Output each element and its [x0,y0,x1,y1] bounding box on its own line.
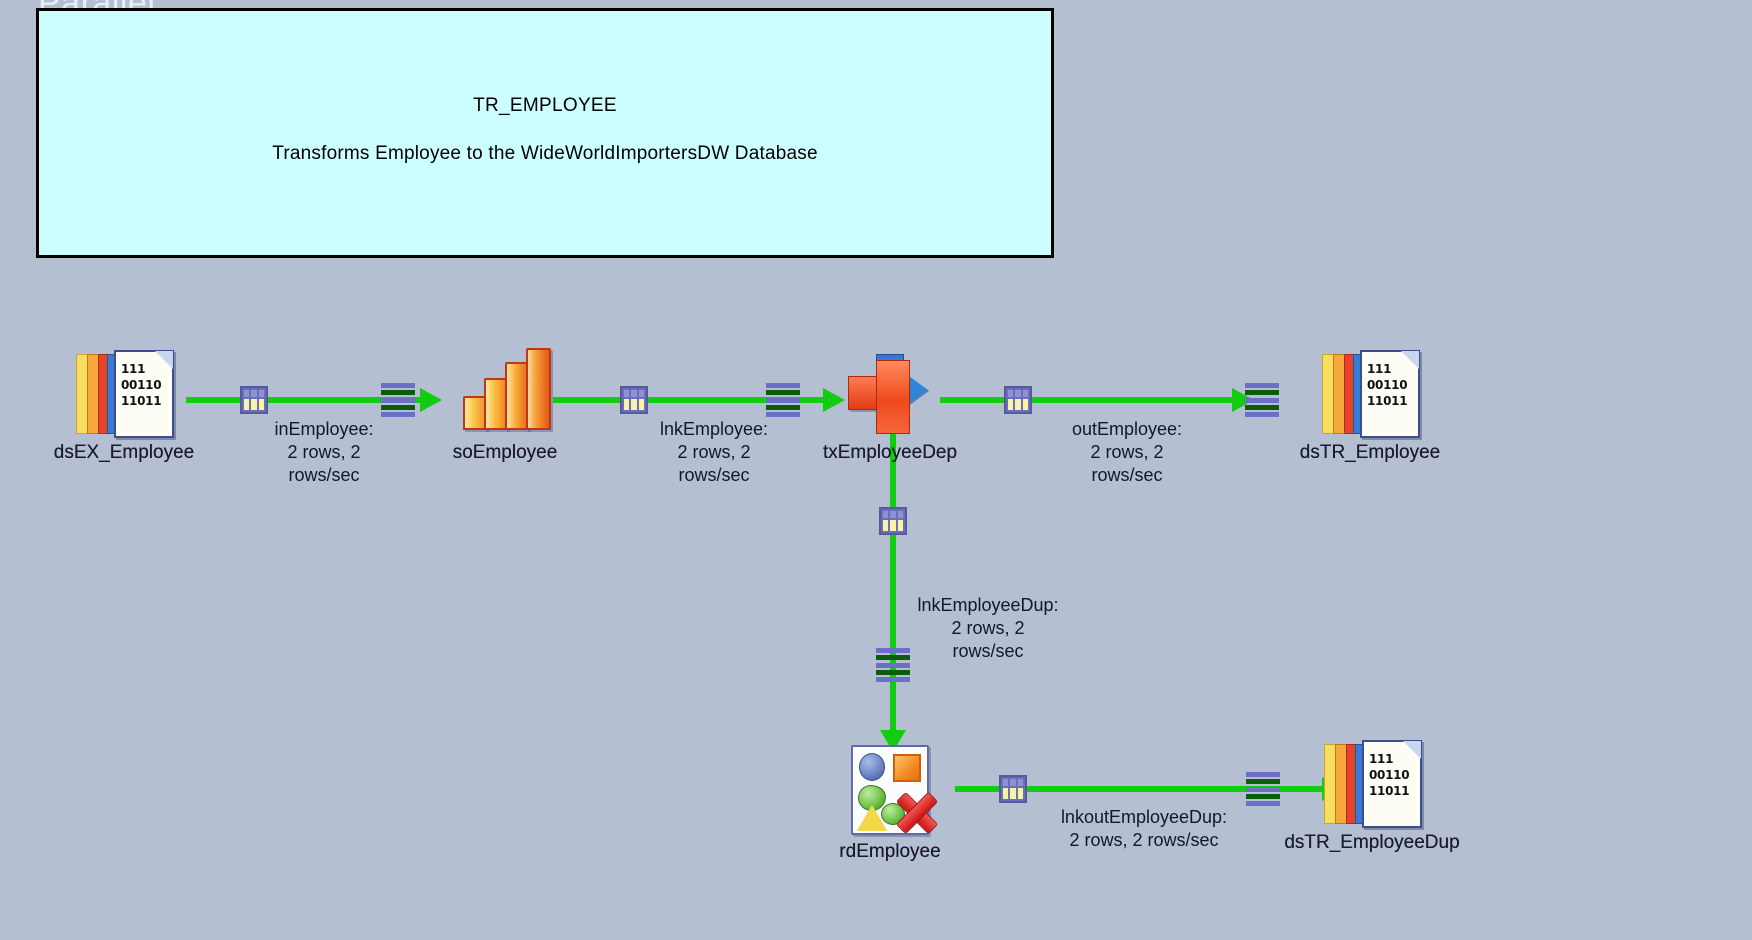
node-label-dsex-employee: dsEX_Employee [54,442,194,464]
flat-file-source-icon: 111 00110 11011 [76,350,172,436]
node-dstr-employee[interactable]: 111 00110 11011 dsTR_Employee [1270,350,1470,464]
path-label-out-employee: outEmployee: 2 rows, 2 rows/sec [1017,418,1237,487]
path-label-lnkout-employee-dup: lnkoutEmployeeDup: 2 rows, 2 rows/sec [994,806,1294,852]
data-flow-canvas[interactable]: Parallel TR_EMPLOYEE Transforms Employee… [0,0,1752,940]
derived-column-icon [842,346,938,436]
flat-file-destination-icon: 111 00110 11011 [1322,350,1418,436]
binary-text: 111 00110 11011 [1369,752,1420,799]
grid-icon-lnkout-employee-dup [999,775,1027,803]
edge-lnk-employee-dup[interactable] [890,430,896,750]
grid-icon-lnk-employee-dup [879,507,907,535]
grid-icon-out-employee [1004,386,1032,414]
node-label-tx-employee-dep: txEmployeeDep [823,442,957,464]
node-rd-employee[interactable]: rdEmployee [790,745,990,863]
annotation-box[interactable]: TR_EMPLOYEE Transforms Employee to the W… [36,8,1054,258]
node-dstr-employee-dup[interactable]: 111 00110 11011 dsTR_EmployeeDup [1272,740,1472,854]
flat-file-destination-icon: 111 00110 11011 [1324,740,1420,826]
row-discard-icon [851,745,929,835]
node-label-so-employee: soEmployee [453,442,558,464]
binary-text: 111 00110 11011 [1367,362,1418,409]
path-label-lnk-employee-dup: lnkEmployeeDup: 2 rows, 2 rows/sec [878,594,1098,663]
node-so-employee[interactable]: soEmployee [405,350,605,464]
grid-icon-in-employee [240,386,268,414]
node-dsex-employee[interactable]: 111 00110 11011 dsEX_Employee [24,350,224,464]
node-label-dstr-employee: dsTR_Employee [1300,442,1440,464]
red-x-icon [895,791,939,835]
node-label-rd-employee: rdEmployee [839,841,940,863]
binary-text: 111 00110 11011 [121,362,172,409]
sort-icon [457,350,553,436]
node-label-dstr-employee-dup: dsTR_EmployeeDup [1284,832,1459,854]
path-label-in-employee: inEmployee: 2 rows, 2 rows/sec [214,418,434,487]
annotation-description: Transforms Employee to the WideWorldImpo… [272,143,818,165]
annotation-title: TR_EMPLOYEE [473,95,617,117]
grid-icon-lnk-employee [620,386,648,414]
node-tx-employee-dep[interactable]: txEmployeeDep [790,346,990,464]
